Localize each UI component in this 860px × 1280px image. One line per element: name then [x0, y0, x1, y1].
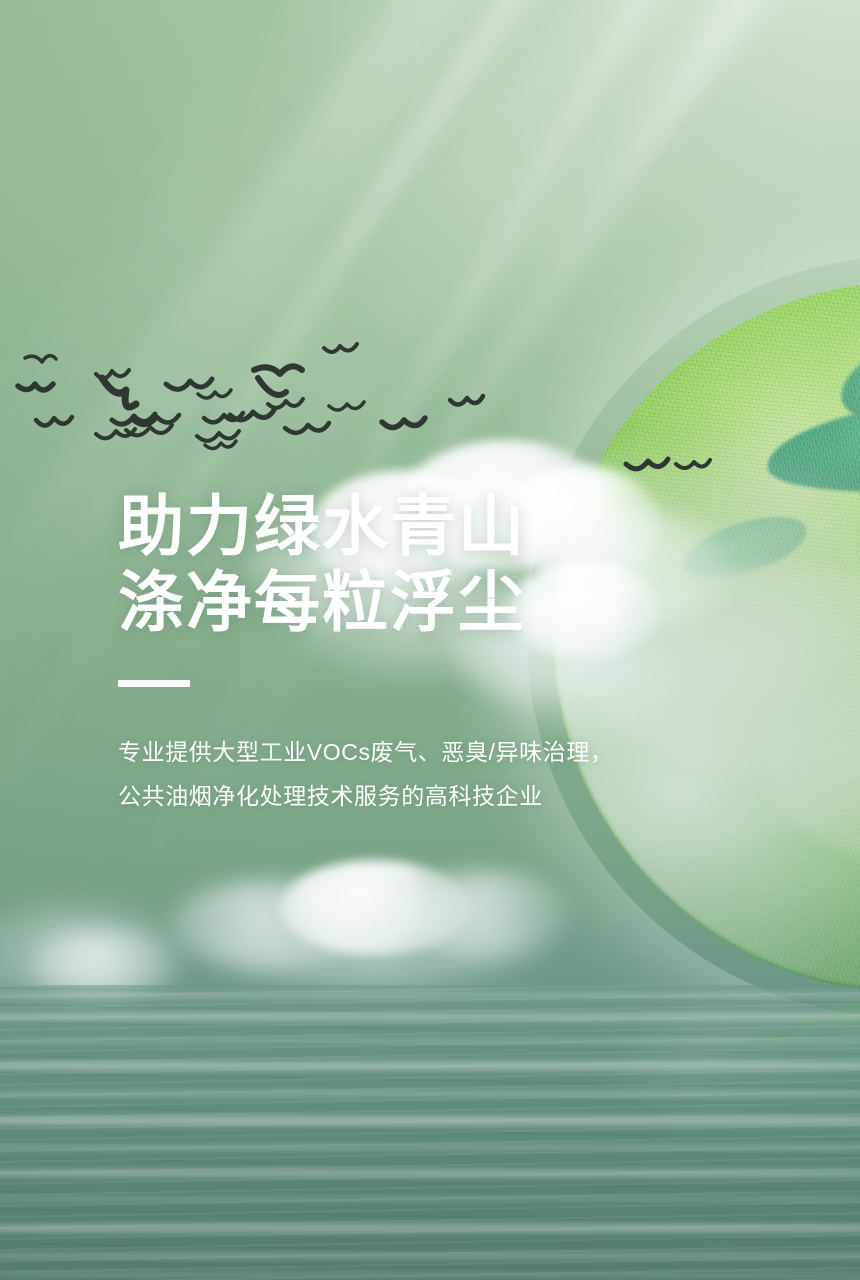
- headline-block: 助力绿水青山 涤净每粒浮尘 专业提供大型工业VOCs废气、恶臭/异味治理， 公共…: [118, 488, 678, 815]
- headline-divider: [118, 680, 190, 687]
- headline-line-2: 涤净每粒浮尘: [118, 564, 678, 640]
- headline-line-1: 助力绿水青山: [118, 488, 678, 564]
- subtitle-line-2: 公共油烟净化处理技术服务的高科技企业: [118, 777, 678, 815]
- poster-canvas: 助力绿水青山 涤净每粒浮尘 专业提供大型工业VOCs废气、恶臭/异味治理， 公共…: [0, 0, 860, 1280]
- subtitle-line-1: 专业提供大型工业VOCs废气、恶臭/异味治理，: [118, 733, 678, 771]
